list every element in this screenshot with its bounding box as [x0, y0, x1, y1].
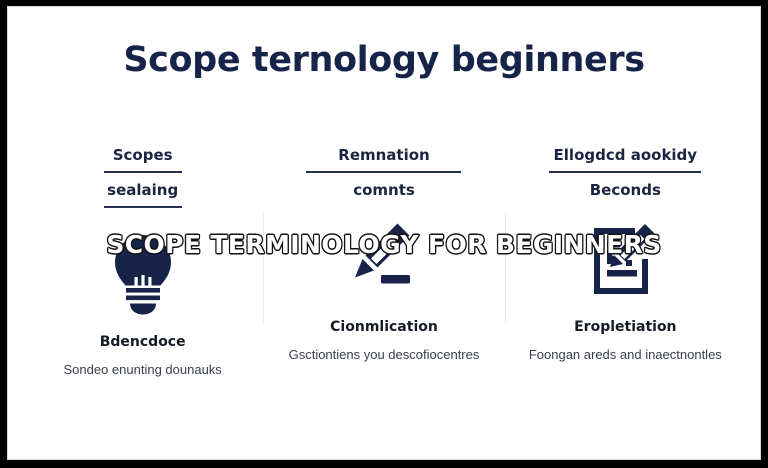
clipboard-pencil-icon: [588, 216, 662, 302]
lightbulb-icon: [110, 231, 176, 317]
column-body-3: Eropletiation Foongan areds and inaectno…: [519, 318, 732, 365]
column-ellogdcd[interactable]: Ellogdcd aookidy Beconds: [505, 145, 746, 365]
page-title: Scope ternology beginners: [8, 39, 760, 81]
screenshot-root: Scope ternology beginners Scopes sealain…: [0, 0, 768, 468]
column-header-line-1: Ellogdcd aookidy: [554, 145, 698, 165]
column-header-3: Ellogdcd aookidy Beconds: [519, 145, 732, 200]
column-body-1: Bdencdoce Sondeo enunting dounauks: [36, 333, 249, 380]
infographic-card: Scope ternology beginners Scopes sealain…: [7, 6, 761, 460]
column-body-2: Cionmlication Gsctiontiens you descofioc…: [277, 318, 490, 365]
column-header-line-1: Scopes: [113, 145, 173, 165]
column-scopes[interactable]: Scopes sealaing: [22, 145, 263, 380]
column-body-description: Foongan areds and inaectnontles: [529, 344, 722, 365]
column-header-line-2: comnts: [353, 180, 415, 200]
column-body-title: Eropletiation: [574, 318, 676, 337]
column-body-title: Cionmlication: [330, 318, 438, 337]
header-rule-top: [306, 171, 461, 173]
column-header-line-2: sealaing: [107, 180, 178, 200]
column-remnation[interactable]: Remnation comnts Cionmlic: [263, 145, 504, 365]
header-rule-bottom: [104, 206, 182, 208]
column-header-line-1: Remnation: [338, 145, 429, 165]
header-rule-top: [104, 171, 182, 173]
column-header-line-2: Beconds: [590, 180, 661, 200]
column-header-1: Scopes sealaing: [36, 145, 249, 215]
column-body-description: Sondeo enunting dounauks: [64, 359, 222, 380]
columns-container: Scopes sealaing: [22, 145, 746, 425]
pencil-icon: [347, 216, 421, 302]
column-body-description: Gsctiontiens you descofiocentres: [289, 344, 480, 365]
header-rule-top: [549, 171, 701, 173]
column-body-title: Bdencdoce: [100, 333, 186, 352]
column-header-2: Remnation comnts: [277, 145, 490, 200]
